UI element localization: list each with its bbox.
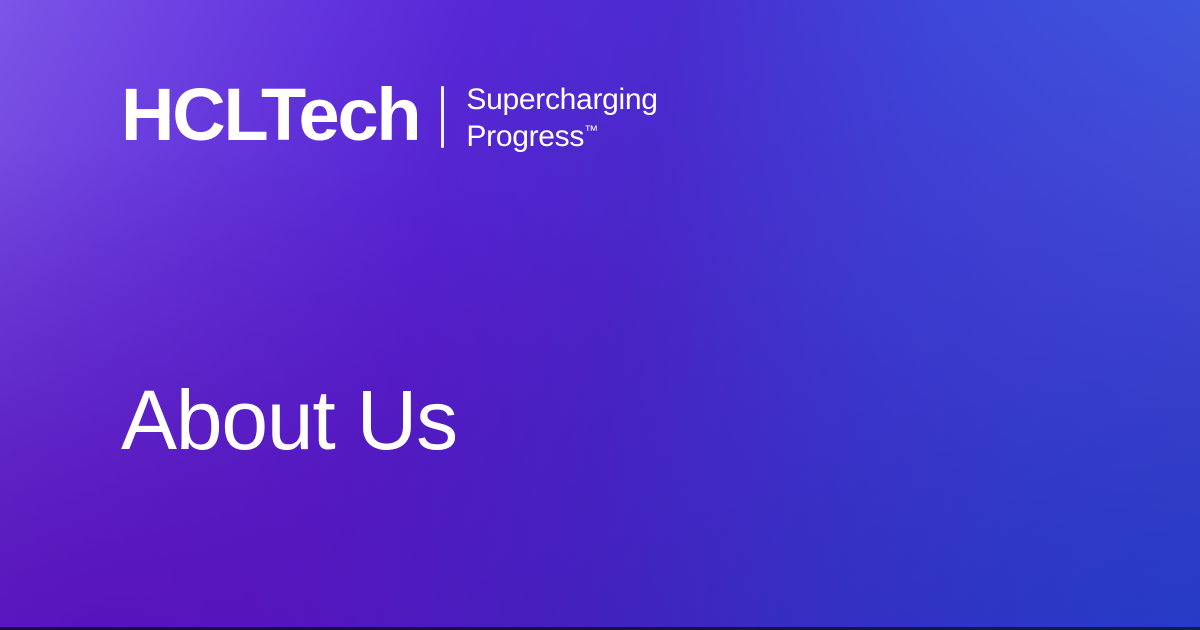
banner-content: HCLTech Supercharging Progress™ About Us [0, 0, 1200, 630]
brand-wordmark: HCLTech [121, 80, 419, 150]
tagline-line-2-text: Progress [466, 120, 584, 153]
page-title: About Us [121, 374, 457, 466]
hcltech-logo[interactable]: HCLTech Supercharging Progress™ [121, 80, 658, 152]
brand-tagline: Supercharging Progress™ [466, 84, 657, 152]
hero-banner: HCLTech Supercharging Progress™ About Us [0, 0, 1200, 630]
logo-divider-icon [441, 86, 444, 148]
trademark-icon: ™ [584, 122, 598, 138]
tagline-line-2: Progress™ [466, 115, 657, 152]
tagline-line-1: Supercharging [466, 84, 657, 115]
